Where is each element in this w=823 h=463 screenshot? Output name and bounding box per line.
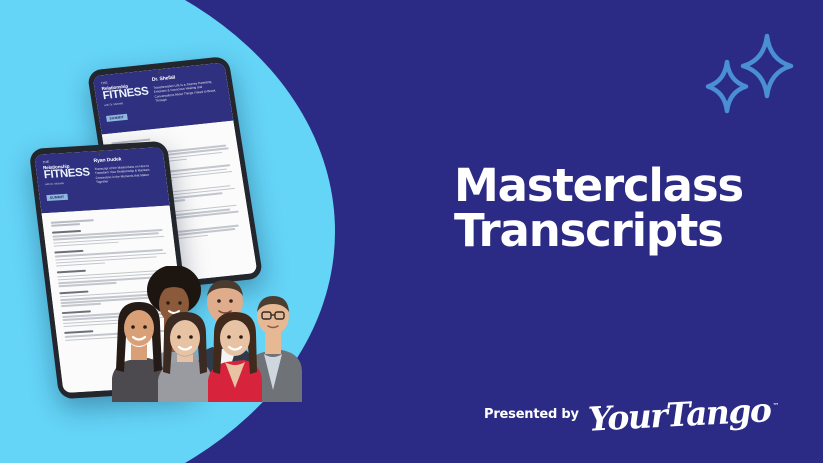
document-title-block-back: Dr. Shefali Transformation Life Is a Jou… <box>151 70 224 120</box>
trademark-symbol: ™ <box>772 402 779 410</box>
presented-by-credit: Presented by YourTango ™ <box>484 398 779 431</box>
presented-by-label: Presented by <box>484 407 579 422</box>
speaker-photo-collage <box>112 266 310 402</box>
document-header-front: THE Relationship FITNESS with Dr. Michel… <box>34 147 169 214</box>
title-line-1: Masterclass <box>454 163 784 208</box>
document-paragraph <box>54 245 168 267</box>
sparkle-large-icon <box>743 36 791 96</box>
sparkle-decoration-group <box>705 32 805 120</box>
slide-canvas: THE Relationship FITNESS with Dr. Michel… <box>0 0 823 463</box>
document-subtitle-front: Transcript of the Masterclass on How to … <box>94 163 159 185</box>
summit-logo-back: THE Relationship FITNESS with Dr. Michel… <box>101 78 152 125</box>
document-subtitle-back: Transformation Life Is a Journey Parenti… <box>153 79 223 104</box>
document-speaker-front: Ryan Dudek <box>93 154 157 164</box>
brand-wordmark: YourTango <box>587 393 771 436</box>
logo-badge-front: SUMMIT <box>46 194 67 201</box>
sparkle-small-icon <box>708 62 746 111</box>
title-line-2: Transcripts <box>454 208 784 253</box>
person-photo-5 <box>158 312 212 402</box>
camera-icon <box>97 153 100 156</box>
summit-logo-front: THE Relationship FITNESS with Dr. Michel… <box>42 159 91 205</box>
person-photo-4 <box>112 302 166 402</box>
logo-badge-back: SUMMIT <box>106 114 127 122</box>
document-paragraph <box>52 225 166 247</box>
page-title: Masterclass Transcripts <box>454 163 784 253</box>
document-title-block-front: Ryan Dudek Transcript of the Masterclass… <box>93 154 161 201</box>
camera-icon <box>157 71 160 74</box>
yourtango-logo: YourTango ™ <box>588 398 779 431</box>
